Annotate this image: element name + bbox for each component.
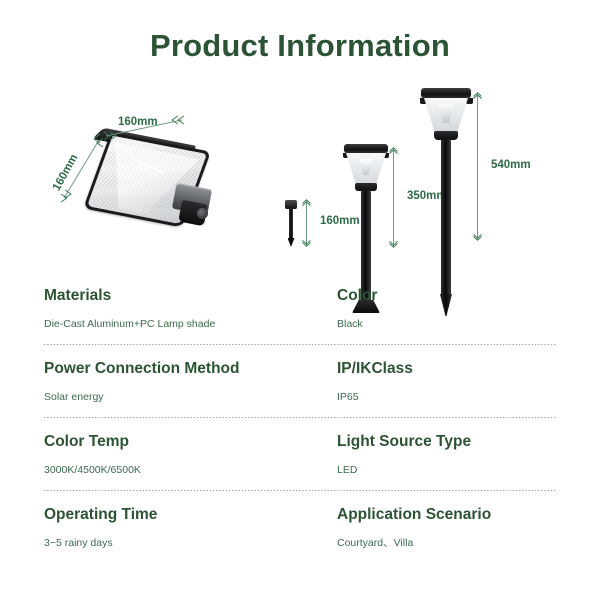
wall-pack-bolt: [197, 208, 208, 219]
arrow-down-icon: [473, 234, 482, 241]
spec-label: IP/IKClass: [337, 359, 556, 379]
table-row: Operating Time 3~5 rainy days Applicatio…: [44, 505, 556, 551]
arrow-up-icon: [389, 147, 398, 154]
spec-cell-color: Color Black: [337, 286, 556, 332]
spec-label: Application Scenario: [337, 505, 556, 525]
arrow-up-icon: [473, 92, 482, 99]
arrow-up-icon: [302, 199, 311, 206]
spec-cell-power-connection-method: Power Connection Method Solar energy: [44, 359, 337, 405]
row-separator: [44, 344, 556, 345]
dimension-label-wallpack-depth: 160mm: [51, 152, 81, 192]
spec-value: 3000K/4500K/6500K: [44, 462, 337, 478]
page-title: Product Information: [0, 28, 600, 64]
tall-lamp-shade: [424, 98, 468, 132]
table-row: Power Connection Method Solar energy IP/…: [44, 359, 556, 418]
spec-label: Light Source Type: [337, 432, 556, 452]
spec-value: Die-Cast Aluminum+PC Lamp shade: [44, 316, 337, 332]
dimension-label-tall-lamp-height: 540mm: [491, 159, 531, 171]
tall-lamp-solar-panel: [421, 88, 471, 98]
stake-rod: [289, 209, 293, 239]
stake-cap: [285, 200, 297, 209]
spec-value: Solar energy: [44, 389, 337, 405]
spec-label: Power Connection Method: [44, 359, 337, 379]
post-lamp-solar-panel: [344, 144, 388, 153]
table-row: Color Temp 3000K/4500K/6500K Light Sourc…: [44, 432, 556, 491]
spec-cell-materials: Materials Die-Cast Aluminum+PC Lamp shad…: [44, 286, 337, 332]
spec-label: Color: [337, 286, 556, 306]
tall-lamp-pole: [441, 139, 451, 297]
dimension-label-wallpack-width: 160mm: [118, 116, 158, 128]
spec-cell-application-scenario: Application Scenario Courtyard、Villa: [337, 505, 556, 551]
spec-value: Black: [337, 316, 556, 332]
arrow-down-icon: [389, 241, 398, 248]
spec-value: 3~5 rainy days: [44, 535, 337, 551]
arrow-down-icon: [302, 240, 311, 247]
product-wall-pack-lamp: [90, 134, 210, 244]
product-tall-spike-lamp: [415, 88, 477, 318]
row-separator: [44, 417, 556, 418]
product-image-panel: 160mm 160mm 160mm: [0, 72, 600, 272]
spec-cell-color-temp: Color Temp 3000K/4500K/6500K: [44, 432, 337, 478]
table-row: Materials Die-Cast Aluminum+PC Lamp shad…: [44, 286, 556, 345]
spec-value: IP65: [337, 389, 556, 405]
stake-tip: [288, 238, 295, 247]
spec-value: LED: [337, 462, 556, 478]
spec-value: Courtyard、Villa: [337, 535, 556, 551]
spec-cell-operating-time: Operating Time 3~5 rainy days: [44, 505, 337, 551]
dimension-line: [393, 148, 394, 247]
spec-label: Color Temp: [44, 432, 337, 452]
spec-cell-light-source-type: Light Source Type LED: [337, 432, 556, 478]
spec-label: Materials: [44, 286, 337, 306]
post-lamp-shade: [346, 153, 386, 184]
specification-table: Materials Die-Cast Aluminum+PC Lamp shad…: [44, 286, 556, 551]
spec-label: Operating Time: [44, 505, 337, 525]
spec-cell-ip-ik-class: IP/IKClass IP65: [337, 359, 556, 405]
row-separator: [44, 490, 556, 491]
dimension-line: [477, 93, 478, 240]
